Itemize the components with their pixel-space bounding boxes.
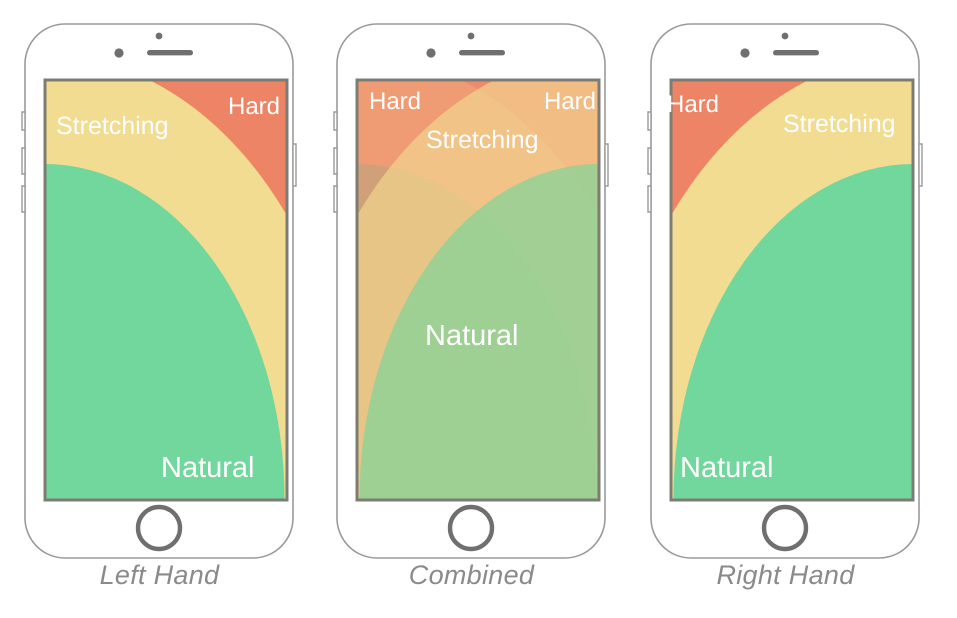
phone-caption-left-hand: Left Hand bbox=[0, 560, 319, 591]
volume-down-button[interactable] bbox=[22, 186, 25, 212]
zone-label-hard: Hard bbox=[228, 93, 280, 121]
proximity-sensor-dot bbox=[114, 48, 123, 57]
volume-up-button[interactable] bbox=[334, 148, 337, 174]
phone-panel-combined: HardHardStretchingNatural Combined bbox=[312, 0, 631, 618]
zone-label-natural: Natural bbox=[425, 320, 519, 353]
volume-down-button[interactable] bbox=[648, 186, 651, 212]
power-button[interactable] bbox=[919, 144, 922, 186]
silent-switch-button[interactable] bbox=[22, 112, 25, 130]
home-button[interactable] bbox=[764, 507, 806, 549]
home-button[interactable] bbox=[450, 507, 492, 549]
volume-up-button[interactable] bbox=[22, 148, 25, 174]
zone-label-stretching: Stretching bbox=[56, 112, 169, 141]
zone-label-natural: Natural bbox=[161, 452, 255, 485]
earpiece-speaker bbox=[459, 50, 505, 55]
zone-label-stretching: Stretching bbox=[783, 110, 896, 139]
zone-label-hard: Hard bbox=[667, 91, 719, 119]
camera-dot bbox=[156, 33, 163, 40]
zone-label-hard-left: Hard bbox=[369, 88, 421, 116]
zone-label-natural: Natural bbox=[680, 452, 774, 485]
proximity-sensor-dot bbox=[426, 48, 435, 57]
camera-dot bbox=[782, 33, 789, 40]
silent-switch-button[interactable] bbox=[334, 112, 337, 130]
phone-panel-right-hand: HardStretchingNatural Right Hand bbox=[626, 0, 945, 618]
power-button[interactable] bbox=[605, 144, 608, 186]
earpiece-speaker bbox=[147, 50, 193, 55]
camera-dot bbox=[468, 33, 475, 40]
earpiece-speaker bbox=[773, 50, 819, 55]
phone-caption-right-hand: Right Hand bbox=[626, 560, 945, 591]
phone-caption-combined: Combined bbox=[312, 560, 631, 591]
silent-switch-button[interactable] bbox=[648, 112, 651, 130]
power-button[interactable] bbox=[293, 144, 296, 186]
zone-label-hard-right: Hard bbox=[544, 88, 596, 116]
volume-down-button[interactable] bbox=[334, 186, 337, 212]
volume-up-button[interactable] bbox=[648, 148, 651, 174]
home-button[interactable] bbox=[138, 507, 180, 549]
thumb-zone-diagram: StretchingHardNatural Left Hand bbox=[0, 0, 957, 618]
zone-label-stretching: Stretching bbox=[426, 126, 539, 155]
phone-panel-left-hand: StretchingHardNatural Left Hand bbox=[0, 0, 319, 618]
proximity-sensor-dot bbox=[740, 48, 749, 57]
